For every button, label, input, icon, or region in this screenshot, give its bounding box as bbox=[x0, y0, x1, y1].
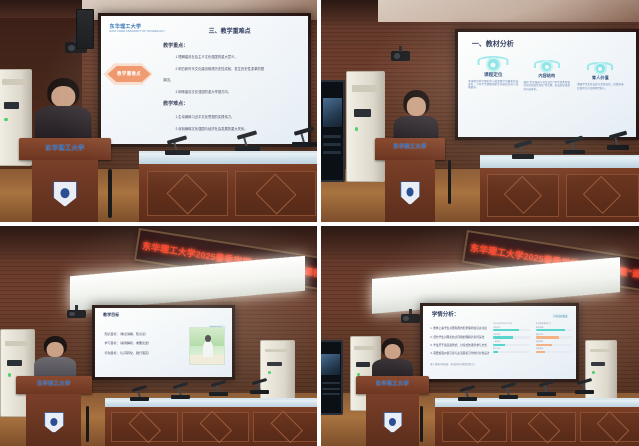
mic-base bbox=[563, 150, 585, 155]
slide-line: 行动目标：（认同转化、践行落实） bbox=[104, 351, 151, 355]
desk-diamond-inlay bbox=[255, 173, 296, 214]
microphone bbox=[171, 384, 190, 398]
icon-column: 课程定位 本课程为本学期形势与政策教学的重要组成部分，引导学生理解国家文化建设布… bbox=[468, 59, 518, 89]
slide-line: 1.理解建设社会主义文化强国的重大意义。 bbox=[176, 54, 238, 59]
mic-head bbox=[211, 380, 227, 387]
desk-panel bbox=[580, 412, 639, 443]
presenter-head bbox=[52, 86, 75, 107]
microphone bbox=[607, 133, 629, 150]
survey-bar bbox=[493, 344, 530, 346]
podium-university-name: 东华理工大学 bbox=[16, 380, 92, 387]
presenter-head bbox=[384, 344, 401, 359]
mic-base bbox=[458, 397, 477, 401]
projection-screen: 一、教材分析 课程定位 本课程为本学期形势与政策教学的重要组成部分，引导学生理解… bbox=[455, 29, 639, 140]
ac-vent bbox=[5, 341, 30, 346]
desk-panel bbox=[253, 412, 317, 443]
desk-panel bbox=[235, 171, 316, 217]
projection-screen: 教学目标 课程思政融入 知识目标：（重点讲解、知识点） 学习目标：（案例解析、重… bbox=[92, 305, 235, 380]
wall-speaker bbox=[76, 9, 93, 49]
mic-head bbox=[501, 382, 517, 389]
mic-base bbox=[575, 390, 594, 394]
slide-title: 教学目标 bbox=[103, 312, 119, 318]
slide-title: 三、教学重难点 bbox=[209, 26, 251, 35]
icon-body: 本课程为本学期形势与政策教学的重要组成部分，引导学生理解国家文化建设布局与战略要… bbox=[468, 80, 518, 89]
ac-vent bbox=[352, 85, 379, 92]
survey-row: 课堂讨论 bbox=[536, 333, 573, 339]
survey-row: 一般关注 bbox=[493, 340, 530, 346]
desk-surface bbox=[480, 157, 639, 167]
slide-line: 2.明白新时代文化建设取得历史性成就、发生历史性变革的根 bbox=[176, 66, 264, 71]
display-row bbox=[322, 388, 340, 390]
ac-display bbox=[354, 109, 371, 117]
survey-bar bbox=[493, 336, 530, 338]
vertical-touch-display[interactable] bbox=[321, 80, 345, 182]
mic-head bbox=[459, 385, 475, 392]
slide-line: 学习目标：（案例解析、重要论述） bbox=[104, 341, 151, 345]
microphone bbox=[458, 387, 477, 401]
icon-label: 内容结构 bbox=[524, 73, 570, 79]
course-position-icon bbox=[488, 59, 499, 70]
lecture-hall-room: 一、教材分析 课程定位 本课程为本学期形势与政策教学的重要组成部分，引导学生理解… bbox=[321, 0, 639, 222]
slide-illustration bbox=[189, 327, 225, 365]
microphone bbox=[512, 142, 534, 159]
slide-corner-tag: 问卷调研数据 bbox=[552, 313, 570, 318]
slide-line: 教学难点： bbox=[163, 100, 188, 107]
display-thumbnail bbox=[323, 98, 342, 127]
panel-bottom-right: 东华理工大学2025春季学期"形势与政策"课程教学竞赛 bbox=[321, 226, 639, 446]
icon-column: 内容结构 围绕"文化强国与文化自信""中华优秀传统文化的创造性转化"等主题，形成… bbox=[524, 62, 570, 90]
cable bbox=[108, 169, 112, 218]
mic-head bbox=[132, 385, 148, 392]
slide-line: 2.深刻阐释文化强国与经济社会发展的重大关系。 bbox=[176, 126, 248, 131]
ac-display bbox=[591, 362, 605, 366]
ceiling-camera-icon bbox=[391, 51, 410, 61]
mic-base bbox=[250, 390, 269, 394]
icon-column: 育人价值 增强学生文化自觉与文化自信，培育担当民族复兴大任的时代新人。 bbox=[577, 64, 623, 89]
desk-panel bbox=[511, 412, 576, 443]
mic-head bbox=[252, 378, 268, 385]
microphone bbox=[250, 380, 269, 394]
presenter-head bbox=[407, 97, 425, 115]
microphone bbox=[165, 138, 190, 156]
mic-base bbox=[537, 392, 556, 396]
desk-diamond-inlay bbox=[167, 173, 208, 214]
survey-caption: 专题报告 bbox=[536, 347, 573, 350]
mic-head bbox=[539, 380, 555, 387]
desk-diamond-inlay bbox=[528, 411, 560, 443]
illustration-student bbox=[203, 341, 213, 357]
education-value-icon bbox=[596, 64, 605, 73]
vertical-touch-display[interactable] bbox=[321, 340, 343, 415]
desk-diamond-inlay bbox=[583, 176, 621, 214]
slide-line: 4. 需要加强价值引领与主流舆论引导的针对性设计 bbox=[430, 351, 489, 355]
podium: 东华理工大学 bbox=[19, 138, 111, 222]
survey-bar bbox=[493, 329, 530, 331]
slide-line: 1.生动阐释习近平文化思想的实践伟力。 bbox=[176, 114, 235, 119]
mic-base bbox=[165, 150, 190, 155]
desk-panel bbox=[111, 412, 178, 443]
lecture-hall-room: 东华理工大学2025春季学期"形势与政策"课程教学竞赛 bbox=[321, 226, 639, 446]
survey-column: 你希望的课堂形式 案例讲解 课堂讨论 视频赏析 bbox=[536, 322, 573, 355]
desk-diamond-inlay bbox=[458, 411, 490, 443]
survey-bar bbox=[493, 351, 530, 353]
ceiling-camera-icon bbox=[401, 314, 420, 323]
conference-desk bbox=[105, 398, 317, 446]
display-row bbox=[322, 393, 340, 395]
microphone bbox=[130, 387, 149, 401]
cable bbox=[448, 160, 451, 204]
desk-diamond-inlay bbox=[597, 411, 629, 443]
slide-university-logo: 东华理工大学 EAST CHINA UNIVERSITY OF TECHNOLO… bbox=[110, 23, 165, 33]
podium-university-name: 东华理工大学 bbox=[375, 143, 445, 150]
ac-vent bbox=[590, 349, 613, 353]
survey-bar bbox=[536, 329, 573, 331]
panel-bottom-left: 东华理工大学2025春季学期"形势与政策"课程教学竞赛 教学目标 bbox=[0, 226, 317, 446]
ceiling-light bbox=[378, 0, 639, 22]
mic-base bbox=[292, 142, 317, 147]
icon-label: 育人价值 bbox=[577, 75, 623, 81]
ac-display bbox=[7, 360, 22, 366]
slide-textbook-analysis: 一、教材分析 课程定位 本课程为本学期形势与政策教学的重要组成部分，引导学生理解… bbox=[458, 32, 636, 137]
survey-row: 专题报告 bbox=[536, 347, 573, 353]
microphone bbox=[537, 382, 556, 396]
slide-line: 教学重点： bbox=[163, 42, 188, 49]
conference-desk bbox=[480, 155, 639, 222]
ac-power-led bbox=[8, 373, 11, 376]
desk-panel bbox=[147, 171, 228, 217]
slide-teaching-objectives: 教学目标 课程思政融入 知识目标：（重点讲解、知识点） 学习目标：（案例解析、重… bbox=[95, 308, 232, 377]
slide-teaching-key-points: 东华理工大学 EAST CHINA UNIVERSITY OF TECHNOLO… bbox=[101, 16, 307, 143]
slide-line: 原因。 bbox=[163, 77, 173, 82]
display-row bbox=[323, 151, 341, 154]
mic-base bbox=[499, 395, 518, 399]
survey-caption: 很少关注 bbox=[493, 347, 530, 350]
photo-collage: 东华理工大学 EAST CHINA UNIVERSITY OF TECHNOLO… bbox=[0, 0, 639, 446]
survey-row: 很少关注 bbox=[493, 347, 530, 353]
survey-bar bbox=[536, 351, 573, 353]
slide-student-analysis: 学情分析： 问卷调研数据 1. 整体上看学生对国际国内形势保持较高关注度 2. … bbox=[423, 306, 576, 379]
presenter-head bbox=[47, 342, 64, 357]
podium-university-name: 东华理工大学 bbox=[19, 143, 111, 152]
podium: 东华理工大学 bbox=[16, 376, 92, 446]
ac-vent bbox=[2, 79, 27, 85]
survey-row: 案例讲解 bbox=[536, 326, 573, 332]
ac-power-led bbox=[4, 118, 7, 122]
microphone bbox=[575, 380, 594, 394]
panel-top-left: 东华理工大学 EAST CHINA UNIVERSITY OF TECHNOLO… bbox=[0, 0, 317, 222]
mic-base bbox=[512, 154, 534, 159]
slide-note: 基于课前问卷调查（有效样本回收情况统计） bbox=[430, 362, 476, 366]
survey-caption: 一般关注 bbox=[493, 340, 530, 343]
camera-arm bbox=[399, 46, 402, 52]
ac-power-led bbox=[268, 371, 271, 373]
desk-panel bbox=[182, 412, 249, 443]
camera-arm bbox=[75, 305, 78, 310]
desk-diamond-inlay bbox=[128, 411, 161, 444]
ac-display bbox=[267, 362, 282, 366]
display-thumbnail bbox=[321, 354, 340, 375]
ac-display bbox=[356, 362, 370, 367]
panel-top-right: 一、教材分析 课程定位 本课程为本学期形势与政策教学的重要组成部分，引导学生理解… bbox=[321, 0, 639, 222]
desk-diamond-inlay bbox=[504, 176, 542, 214]
content-structure-icon bbox=[542, 62, 551, 71]
mic-base bbox=[171, 395, 190, 399]
presenter bbox=[38, 82, 89, 144]
survey-caption: 视频赏析 bbox=[536, 340, 573, 343]
microphone bbox=[499, 384, 518, 398]
lecture-hall-room: 东华理工大学2025春季学期"形势与政策"课程教学竞赛 教学目标 bbox=[0, 226, 317, 446]
ceiling-camera-icon bbox=[67, 310, 86, 319]
survey-row: 比较关注 bbox=[493, 333, 530, 339]
mic-base bbox=[235, 146, 260, 151]
survey-row: 非常关注 bbox=[493, 326, 530, 332]
slide-line: 2. 部分学生对理论热点问题的理解仍有待深化 bbox=[430, 335, 484, 339]
projection-screen: 学情分析： 问卷调研数据 1. 整体上看学生对国际国内形势保持较高关注度 2. … bbox=[420, 303, 579, 382]
cable bbox=[420, 406, 423, 441]
podium: 东华理工大学 bbox=[375, 138, 445, 222]
slide-title: 一、教材分析 bbox=[472, 39, 514, 49]
conference-desk bbox=[139, 151, 317, 222]
microphone bbox=[563, 138, 585, 155]
desk-diamond-inlay bbox=[199, 411, 232, 444]
desk-panel bbox=[566, 174, 639, 217]
survey-column: 你对当前形势的关注度 非常关注 比较关注 一般关注 bbox=[493, 322, 530, 355]
ac-power-led bbox=[355, 127, 359, 131]
conference-desk bbox=[435, 398, 639, 446]
display-row bbox=[323, 143, 341, 146]
slide-line: 知识目标：（重点讲解、知识点） bbox=[104, 332, 148, 336]
cable bbox=[86, 406, 89, 441]
slide-title: 学情分析： bbox=[432, 310, 460, 318]
mic-base bbox=[607, 145, 629, 150]
camera-arm bbox=[409, 309, 412, 314]
display-row bbox=[322, 382, 340, 384]
podium-university-name: 东华理工大学 bbox=[356, 380, 429, 387]
slide-line: 1. 整体上看学生对国际国内形势保持较高关注度 bbox=[430, 326, 487, 330]
microphone bbox=[292, 129, 317, 147]
ac-power-led bbox=[592, 371, 595, 373]
display-row bbox=[323, 135, 341, 138]
survey-row: 视频赏析 bbox=[536, 340, 573, 346]
ac-display bbox=[4, 102, 19, 109]
desk-panel bbox=[487, 174, 560, 217]
microphone bbox=[235, 133, 260, 151]
slide-line: 3.明晰建设文化强国的重大举措方向。 bbox=[176, 89, 232, 94]
slide-line: 3. 学生乐于接受案例式、讨论式的课堂参与方式 bbox=[430, 343, 487, 347]
ac-vent bbox=[265, 349, 290, 353]
microphone bbox=[209, 382, 228, 396]
mic-base bbox=[130, 397, 149, 401]
lecture-hall-room: 东华理工大学 EAST CHINA UNIVERSITY OF TECHNOLO… bbox=[0, 0, 317, 222]
survey-bar bbox=[536, 344, 573, 346]
projection-screen: 东华理工大学 EAST CHINA UNIVERSITY OF TECHNOLO… bbox=[98, 13, 310, 146]
desk-diamond-inlay bbox=[270, 411, 303, 444]
ac-vent bbox=[354, 346, 377, 350]
icon-body: 围绕"文化强国与文化自信""中华优秀传统文化的创造性转化"等主题，形成层层递进的… bbox=[524, 81, 570, 90]
mic-head bbox=[173, 382, 189, 389]
mic-base bbox=[209, 392, 228, 396]
icon-label: 课程定位 bbox=[468, 72, 518, 78]
desk-panel bbox=[442, 412, 507, 443]
mic-head bbox=[577, 378, 593, 385]
icon-body: 增强学生文化自觉与文化自信，培育担当民族复兴大任的时代新人。 bbox=[577, 83, 623, 89]
survey-bar bbox=[536, 336, 573, 338]
podium: 东华理工大学 bbox=[356, 376, 429, 446]
